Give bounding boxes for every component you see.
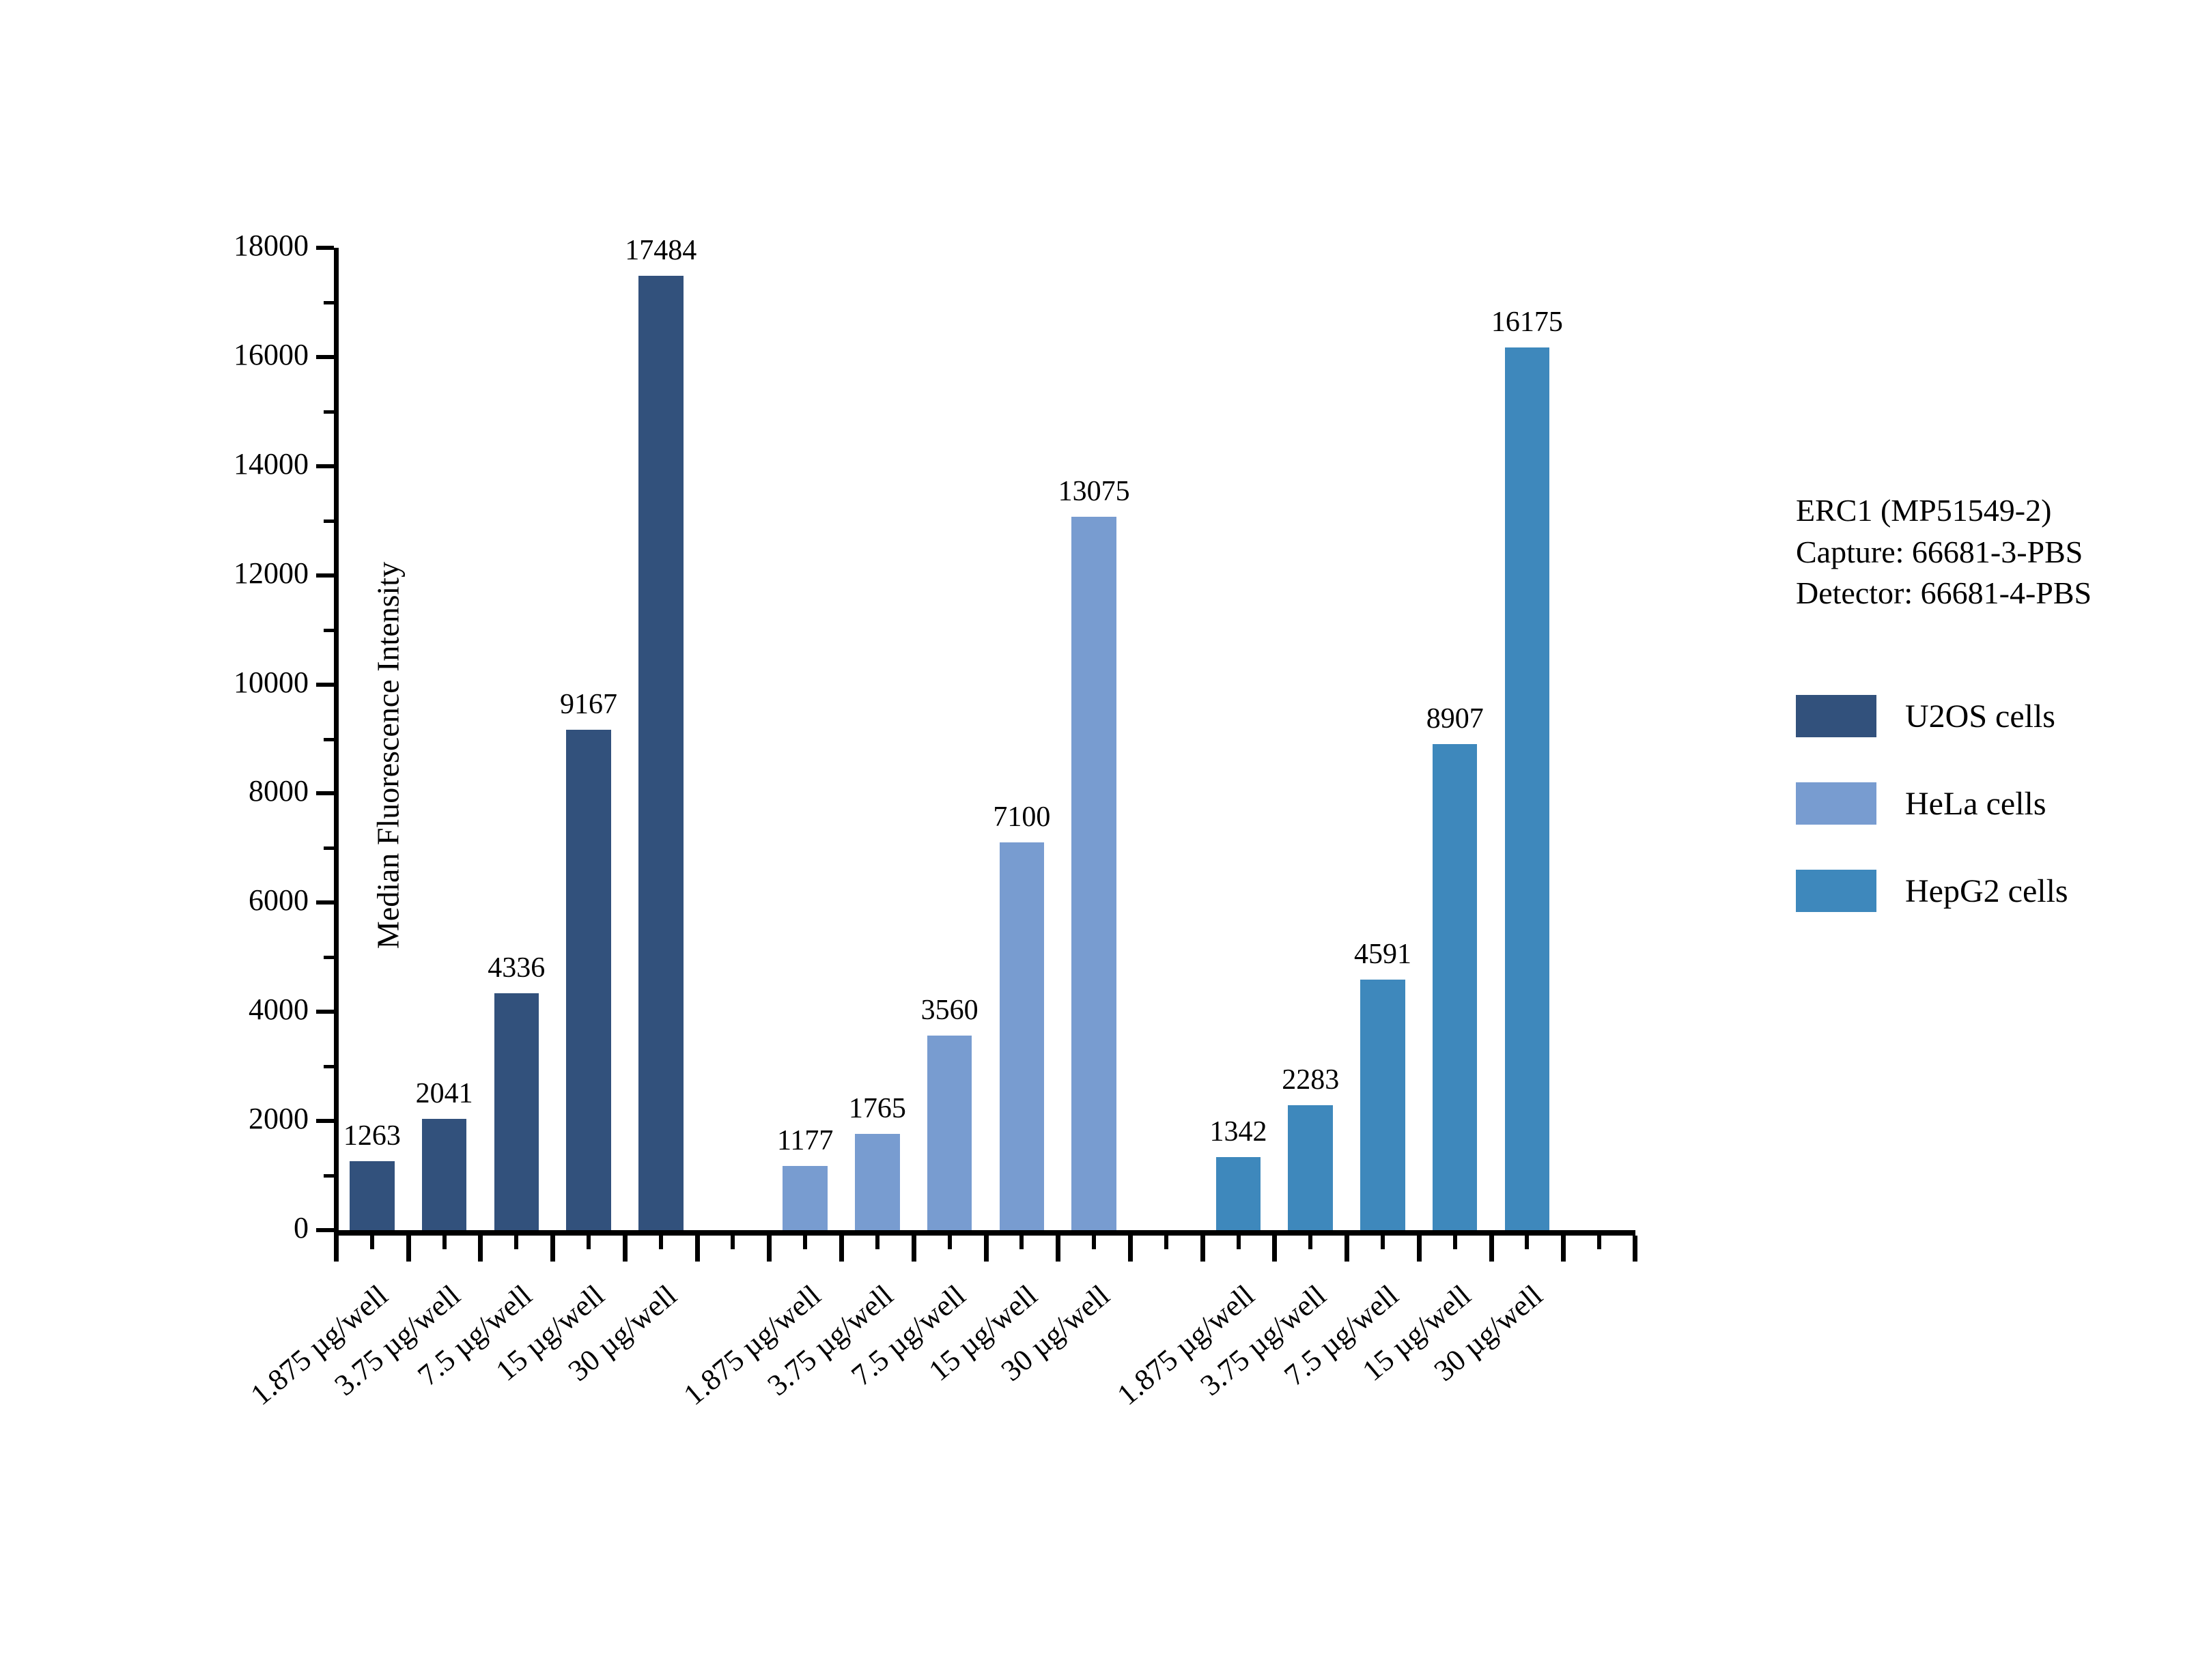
x-minor-tick — [731, 1236, 735, 1249]
x-minor-tick — [1308, 1236, 1312, 1249]
x-major-tick — [334, 1236, 339, 1262]
bar[interactable] — [638, 276, 684, 1230]
y-tick-label: 12000 — [131, 558, 309, 588]
bar[interactable] — [566, 730, 611, 1230]
x-major-tick — [767, 1236, 772, 1262]
y-major-tick — [316, 573, 334, 578]
y-tick-label: 0 — [131, 1213, 309, 1243]
x-minor-tick — [370, 1236, 374, 1249]
y-major-tick — [316, 464, 334, 468]
annotation-line-1: ERC1 (MP51549-2) — [1796, 490, 2092, 532]
y-minor-tick — [324, 1174, 334, 1178]
legend-label: U2OS cells — [1905, 698, 2055, 735]
x-major-tick — [1561, 1236, 1566, 1262]
y-tick-label: 4000 — [131, 995, 309, 1025]
x-major-tick — [550, 1236, 555, 1262]
x-major-tick — [1272, 1236, 1277, 1262]
x-major-tick — [1489, 1236, 1494, 1262]
x-minor-tick — [442, 1236, 447, 1249]
y-major-tick — [316, 1010, 334, 1014]
y-minor-tick — [324, 410, 334, 414]
annotation-line-3: Detector: 66681-4-PBS — [1796, 573, 2092, 614]
x-major-tick — [478, 1236, 483, 1262]
legend-item[interactable]: HeLa cells — [1796, 760, 2068, 847]
y-minor-tick — [324, 301, 334, 304]
y-tick-label: 10000 — [131, 668, 309, 698]
bar[interactable] — [783, 1166, 828, 1230]
x-major-tick — [1128, 1236, 1133, 1262]
x-minor-tick — [514, 1236, 518, 1249]
legend-swatch-icon — [1796, 695, 1876, 737]
y-major-tick — [316, 355, 334, 359]
y-minor-tick — [324, 519, 334, 523]
bar[interactable] — [855, 1134, 900, 1230]
x-minor-tick — [948, 1236, 952, 1249]
x-major-tick — [406, 1236, 411, 1262]
x-major-tick — [1200, 1236, 1205, 1262]
legend-label: HepG2 cells — [1905, 872, 2068, 910]
y-axis-title: Median Fluorescence Intensity — [370, 449, 406, 1063]
y-major-tick — [316, 683, 334, 687]
x-minor-tick — [1164, 1236, 1168, 1249]
bar[interactable] — [422, 1119, 467, 1230]
bar-value-label: 16175 — [1431, 308, 1622, 337]
bar[interactable] — [1433, 744, 1478, 1230]
x-major-tick — [1417, 1236, 1422, 1262]
y-tick-label: 14000 — [131, 449, 309, 479]
y-tick-label: 8000 — [131, 776, 309, 806]
x-major-tick — [1056, 1236, 1060, 1262]
y-minor-tick — [324, 1065, 334, 1068]
x-minor-tick — [1525, 1236, 1529, 1249]
x-minor-tick — [659, 1236, 663, 1249]
bar[interactable] — [1360, 980, 1405, 1230]
legend-swatch-icon — [1796, 870, 1876, 912]
x-minor-tick — [1237, 1236, 1241, 1249]
x-minor-tick — [1381, 1236, 1385, 1249]
x-axis-line — [334, 1230, 1635, 1236]
y-minor-tick — [324, 956, 334, 959]
x-major-tick — [984, 1236, 989, 1262]
chart-figure: Median Fluorescence Intensity 0200040006… — [0, 0, 2196, 1680]
legend-swatch-icon — [1796, 782, 1876, 825]
x-minor-tick — [587, 1236, 591, 1249]
y-tick-label: 6000 — [131, 885, 309, 915]
y-minor-tick — [324, 738, 334, 741]
bar[interactable] — [1216, 1157, 1261, 1230]
x-minor-tick — [1019, 1236, 1024, 1249]
legend-item[interactable]: U2OS cells — [1796, 672, 2068, 760]
bar[interactable] — [1288, 1105, 1333, 1230]
y-axis-line — [334, 248, 339, 1234]
x-minor-tick — [875, 1236, 879, 1249]
x-minor-tick — [1453, 1236, 1457, 1249]
legend-label: HeLa cells — [1905, 785, 2046, 823]
bar-value-label: 17484 — [565, 236, 757, 265]
bar[interactable] — [1071, 517, 1116, 1230]
bar[interactable] — [1505, 347, 1550, 1230]
y-major-tick — [316, 900, 334, 905]
x-major-tick — [695, 1236, 700, 1262]
x-minor-tick — [1092, 1236, 1096, 1249]
bar[interactable] — [494, 993, 539, 1230]
bar[interactable] — [350, 1161, 395, 1230]
bar[interactable] — [1000, 842, 1045, 1230]
chart-legend: U2OS cellsHeLa cellsHepG2 cells — [1796, 672, 2068, 935]
x-minor-tick — [803, 1236, 807, 1249]
y-minor-tick — [324, 629, 334, 632]
x-major-tick — [839, 1236, 844, 1262]
bar[interactable] — [927, 1036, 972, 1230]
x-minor-tick — [1597, 1236, 1601, 1249]
chart-annotation: ERC1 (MP51549-2)Capture: 66681-3-PBSDete… — [1796, 490, 2092, 614]
y-tick-label: 18000 — [131, 231, 309, 261]
x-major-tick — [1345, 1236, 1349, 1262]
y-major-tick — [316, 791, 334, 795]
legend-item[interactable]: HepG2 cells — [1796, 847, 2068, 935]
y-major-tick — [316, 1228, 334, 1232]
bar-value-label: 13075 — [998, 477, 1189, 506]
y-major-tick — [316, 246, 334, 250]
x-major-tick — [1633, 1236, 1637, 1262]
y-tick-label: 16000 — [131, 340, 309, 370]
y-minor-tick — [324, 846, 334, 850]
x-major-tick — [912, 1236, 916, 1262]
x-major-tick — [623, 1236, 628, 1262]
annotation-line-2: Capture: 66681-3-PBS — [1796, 532, 2092, 573]
